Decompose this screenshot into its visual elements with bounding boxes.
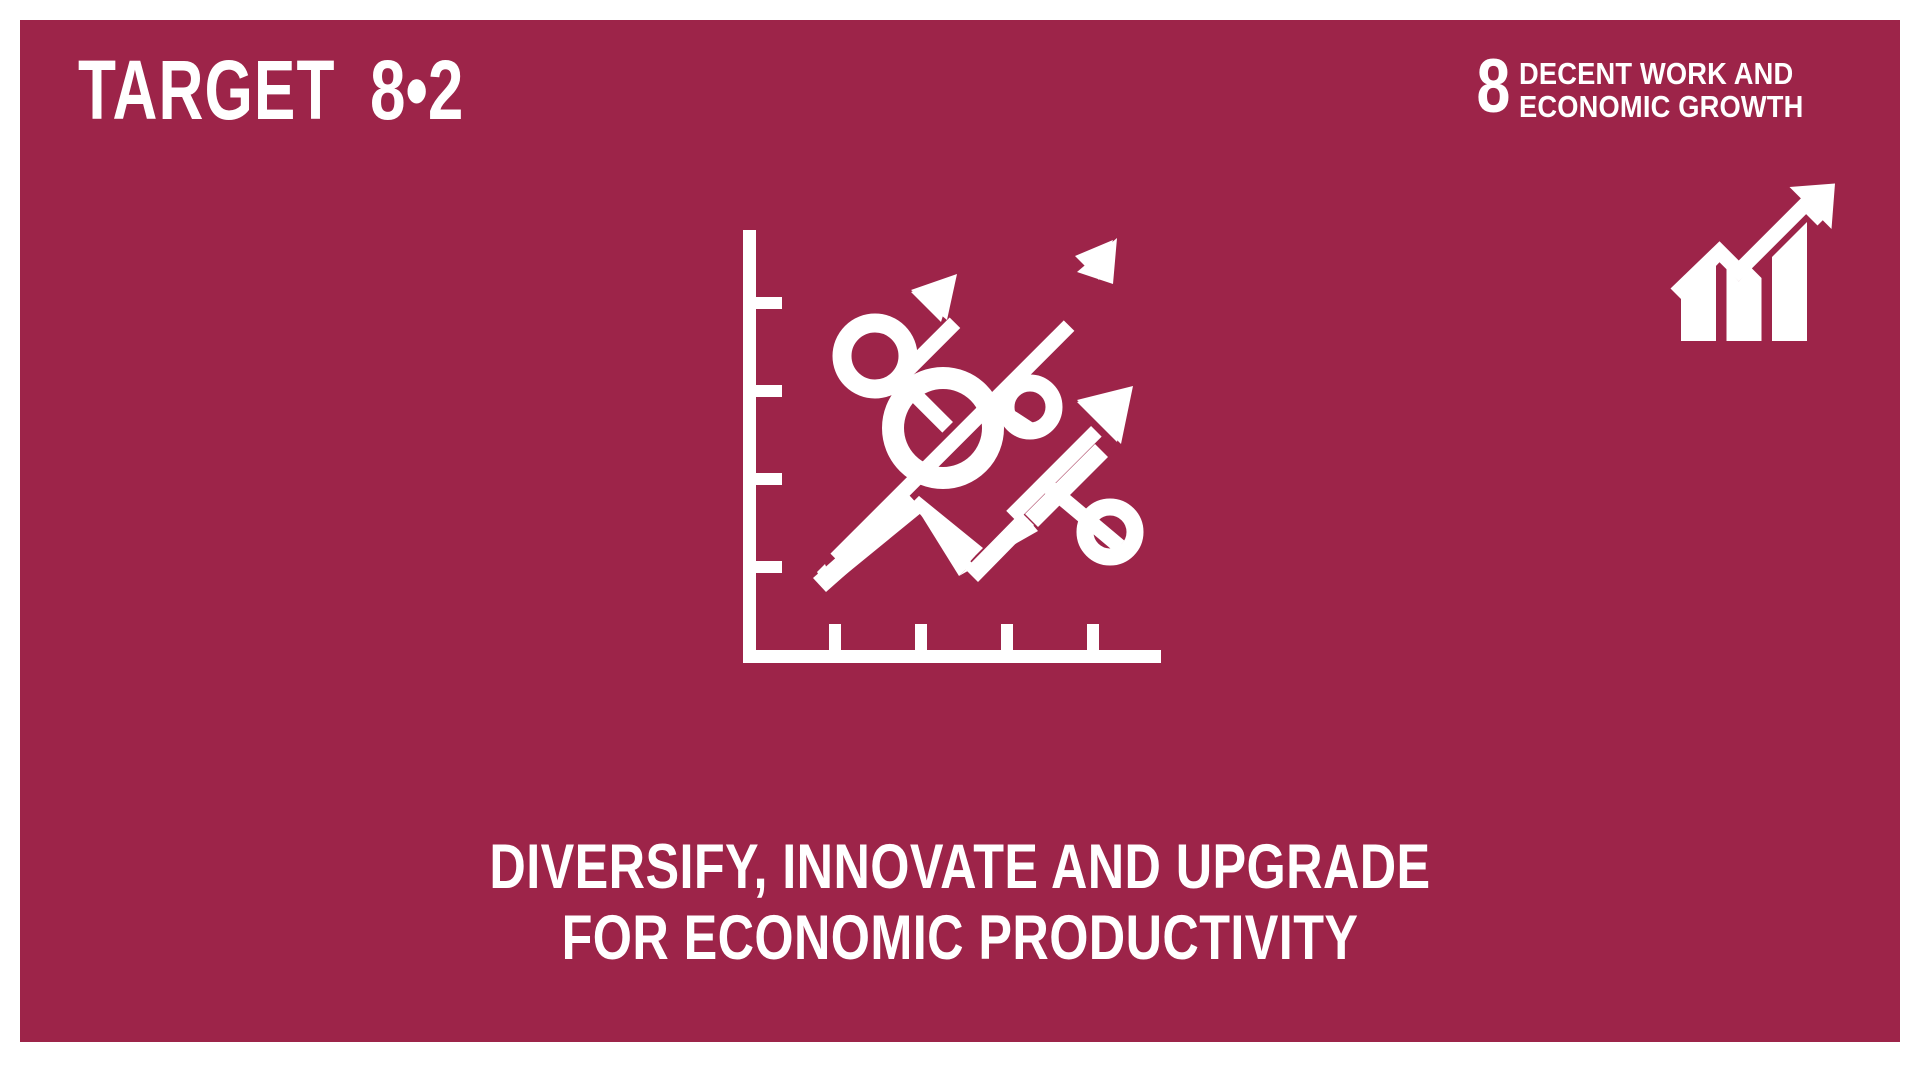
goal-number: 8 [1477, 52, 1511, 122]
goal-title: DECENT WORK AND ECONOMIC GROWTH [1519, 52, 1842, 124]
diversify-innovate-chart-icon [725, 222, 1195, 677]
bar-chart-growth-arrow-icon [1667, 180, 1842, 355]
goal-title-line-2: ECONOMIC GROWTH [1519, 91, 1804, 124]
target-caption: DIVERSIFY, INNOVATE AND UPGRADE FOR ECON… [0, 832, 1920, 973]
goal-identity-block: 8 DECENT WORK AND ECONOMIC GROWTH [1468, 52, 1842, 124]
caption-line-1: DIVERSIFY, INNOVATE AND UPGRADE [192, 832, 1728, 903]
target-heading: TARGET 8•2 [78, 48, 493, 132]
target-number: 8•2 [370, 48, 463, 132]
caption-line-2: FOR ECONOMIC PRODUCTIVITY [192, 903, 1728, 974]
target-label: TARGET [78, 48, 336, 132]
goal-title-line-1: DECENT WORK AND [1519, 58, 1804, 91]
sdg-target-poster: TARGET 8•2 8 DECENT WORK AND ECONOMIC GR… [0, 0, 1920, 1080]
